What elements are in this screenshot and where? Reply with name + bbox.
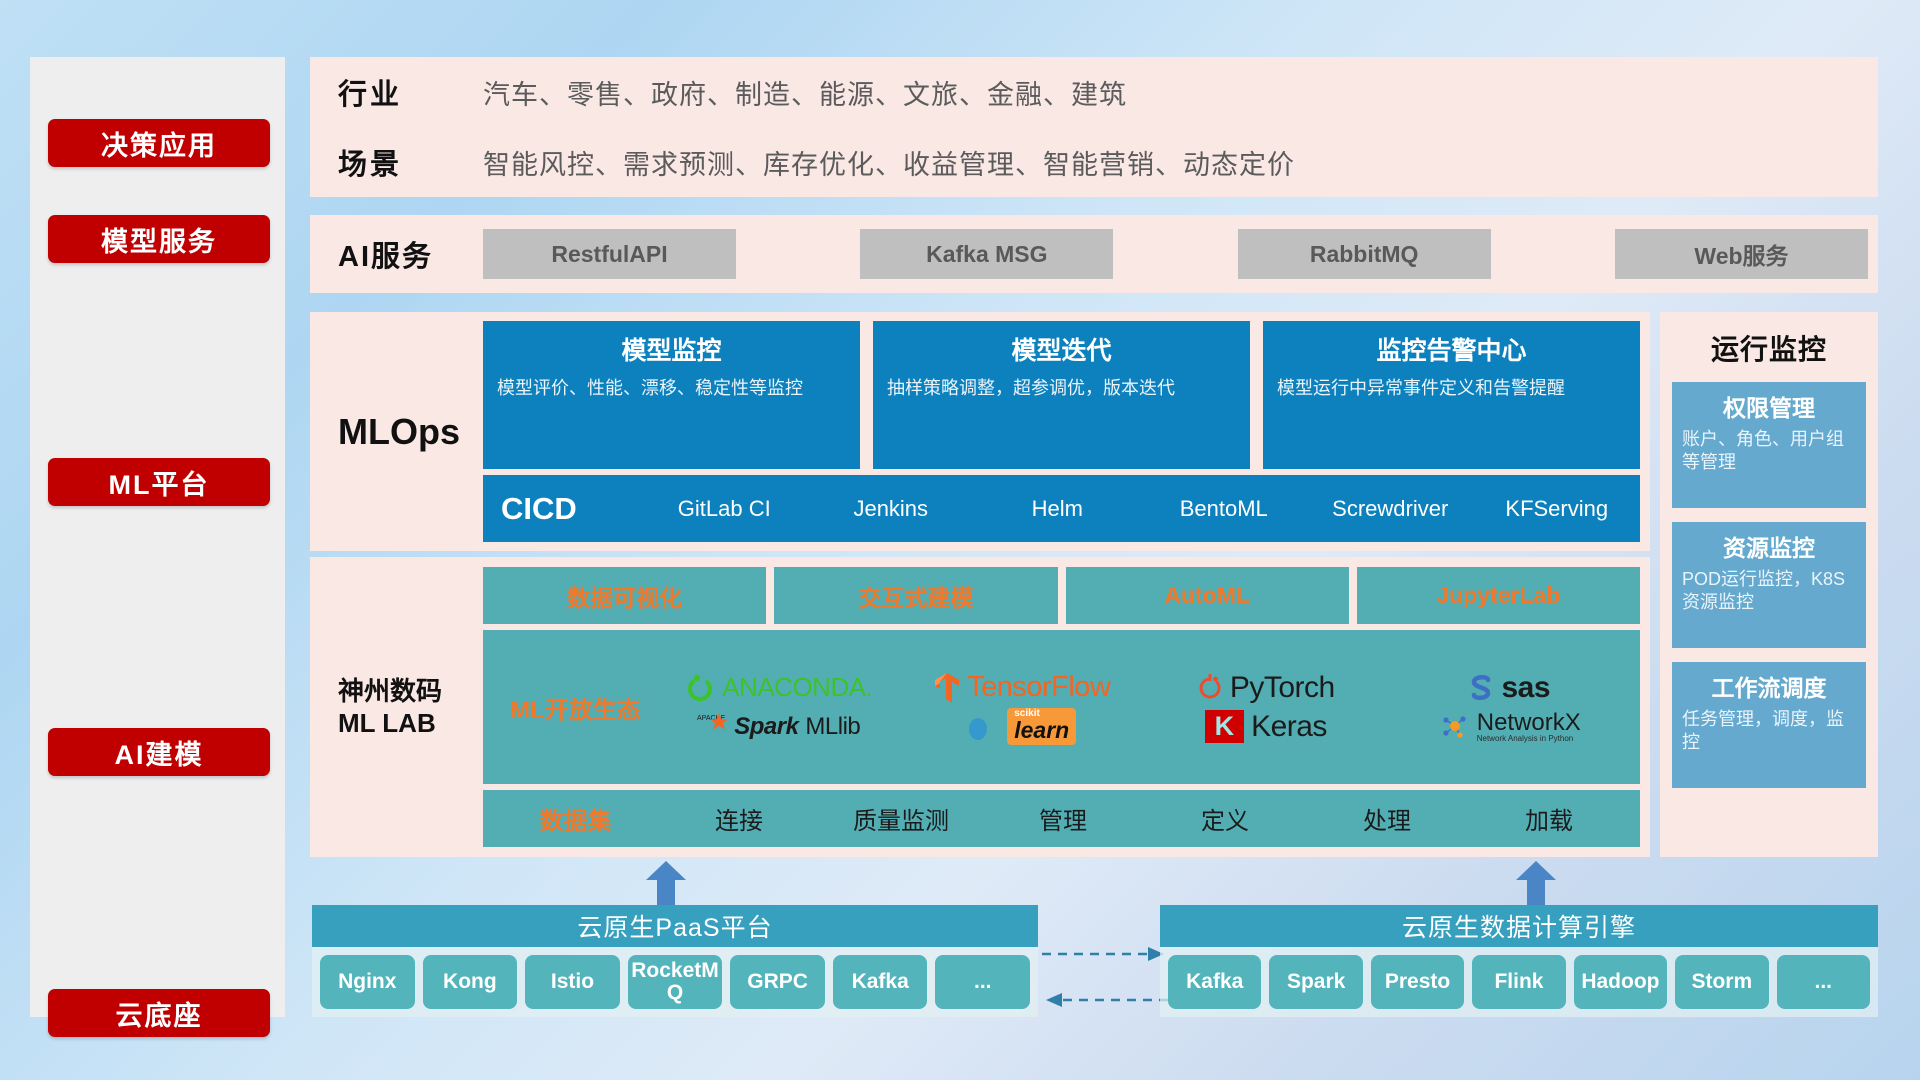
ml-lab-tool-list: 数据可视化 交互式建模 AutoML JupyterLab — [483, 567, 1640, 624]
mlops-card-list: 模型监控 模型评价、性能、漂移、稳定性等监控 模型迭代 抽样策略调整，超参调优，… — [483, 321, 1640, 469]
ml-ecosystem-logo-grid: ANACONDA. TensorFlow — [658, 669, 1630, 745]
run-monitor-card-desc: 任务管理，调度，监控 — [1682, 708, 1856, 755]
sas-logo-icon — [1468, 674, 1494, 702]
ai-service-chip-web-service[interactable]: Web服务 — [1615, 229, 1868, 279]
ml-lab-label-line2: ML LAB — [338, 707, 483, 740]
cicd-item-kfserving[interactable]: KFServing — [1474, 497, 1641, 520]
keras-logo-icon: K — [1205, 710, 1245, 743]
pytorch-logo-icon — [1197, 673, 1223, 703]
logo-anaconda[interactable]: ANACONDA. — [685, 672, 872, 703]
cloud-chip-kafka[interactable]: Kafka — [833, 955, 928, 1009]
logo-networkx[interactable]: NetworkX Network Analysis in Python — [1438, 710, 1581, 744]
run-monitor-card-resource[interactable]: 资源监控 POD运行监控，K8S资源监控 — [1672, 522, 1866, 648]
apache-spark-logo-icon: APACHE — [697, 711, 727, 743]
logo-spark-mllib[interactable]: APACHE Spark MLlib — [697, 711, 860, 743]
ml-lab-content: 数据可视化 交互式建模 AutoML JupyterLab ML开放生态 ANA… — [483, 567, 1640, 847]
run-monitor-card-desc: 账户、角色、用户组等管理 — [1682, 428, 1856, 475]
mlops-card-title: 监控告警中心 — [1277, 331, 1626, 367]
cloud-chip-more[interactable]: ... — [935, 955, 1030, 1009]
logo-anaconda-text: ANACONDA. — [722, 672, 872, 703]
cicd-item-bentoml[interactable]: BentoML — [1141, 497, 1308, 520]
run-monitor-card-permission[interactable]: 权限管理 账户、角色、用户组等管理 — [1672, 382, 1866, 508]
cloud-data-engine-chip-list: Kafka Spark Presto Flink Hadoop Storm ..… — [1160, 947, 1878, 1017]
mlops-card-model-monitoring[interactable]: 模型监控 模型评价、性能、漂移、稳定性等监控 — [483, 321, 860, 469]
ml-lab-label: 神州数码 ML LAB — [338, 675, 483, 740]
ai-service-chip-restfulapi[interactable]: RestfulAPI — [483, 229, 736, 279]
tensorflow-logo-icon — [934, 672, 960, 704]
scikit-learn-logo-icon — [968, 711, 1000, 743]
ai-service-chip-list: RestfulAPI Kafka MSG RabbitMQ Web服务 — [483, 229, 1878, 279]
cloud-chip-more[interactable]: ... — [1777, 955, 1870, 1009]
cicd-title: CICD — [501, 491, 641, 527]
logo-pytorch-text: PyTorch — [1230, 671, 1335, 705]
dataset-label: 数据集 — [493, 801, 658, 836]
logo-tensorflow-text: TensorFlow — [967, 671, 1110, 704]
cloud-chip-storm[interactable]: Storm — [1675, 955, 1768, 1009]
dataset-band: 数据集 连接 质量监测 管理 定义 处理 加载 — [483, 790, 1640, 847]
rail-label-ai-modeling[interactable]: AI建模 — [48, 728, 270, 776]
rail-label-model-service[interactable]: 模型服务 — [48, 215, 270, 263]
ml-ecosystem-band: ML开放生态 ANACONDA. TensorFlow — [483, 630, 1640, 784]
cloud-data-engine-title: 云原生数据计算引擎 — [1160, 905, 1878, 947]
cloud-chip-kafka[interactable]: Kafka — [1168, 955, 1261, 1009]
logo-scikit-learn[interactable]: scikit learn — [968, 708, 1076, 745]
cloud-chip-flink[interactable]: Flink — [1472, 955, 1565, 1009]
logo-pytorch[interactable]: PyTorch — [1197, 671, 1335, 705]
dataset-item-manage[interactable]: 管理 — [982, 801, 1144, 836]
logo-spark-text: Spark — [734, 713, 798, 741]
ai-service-panel: AI服务 RestfulAPI Kafka MSG RabbitMQ Web服务 — [310, 215, 1878, 293]
dataset-item-connect[interactable]: 连接 — [658, 801, 820, 836]
scenario-row: 场景 智能风控、需求预测、库存优化、收益管理、智能营销、动态定价 — [310, 127, 1878, 197]
tool-chip-automl[interactable]: AutoML — [1066, 567, 1349, 624]
cloud-chip-nginx[interactable]: Nginx — [320, 955, 415, 1009]
cicd-item-jenkins[interactable]: Jenkins — [808, 497, 975, 520]
run-monitor-card-title: 工作流调度 — [1682, 669, 1856, 703]
logo-sas-text: sas — [1501, 671, 1550, 705]
logo-networkx-text: NetworkX — [1477, 710, 1581, 735]
dataset-item-process[interactable]: 处理 — [1306, 801, 1468, 836]
up-arrow-paas-icon — [645, 861, 687, 905]
ml-ecosystem-label: ML开放生态 — [493, 690, 658, 725]
cicd-item-screwdriver[interactable]: Screwdriver — [1307, 497, 1474, 520]
bidirectional-link-arrows-icon — [1040, 938, 1170, 1016]
logo-learn-text: learn — [1014, 719, 1069, 742]
cloud-chip-presto[interactable]: Presto — [1371, 955, 1464, 1009]
run-monitor-card-desc: POD运行监控，K8S资源监控 — [1682, 568, 1856, 615]
cloud-chip-hadoop[interactable]: Hadoop — [1574, 955, 1667, 1009]
cloud-chip-rocketmq[interactable]: RocketMQ — [628, 955, 723, 1009]
run-monitor-card-workflow[interactable]: 工作流调度 任务管理，调度，监控 — [1672, 662, 1866, 788]
mlops-panel: MLOps 模型监控 模型评价、性能、漂移、稳定性等监控 模型迭代 抽样策略调整… — [310, 312, 1650, 551]
cloud-paas-chip-list: Nginx Kong Istio RocketMQ GRPC Kafka ... — [312, 947, 1038, 1017]
mlops-label: MLOps — [338, 411, 483, 453]
mlops-card-alert-center[interactable]: 监控告警中心 模型运行中异常事件定义和告警提醒 — [1263, 321, 1640, 469]
dataset-item-define[interactable]: 定义 — [1144, 801, 1306, 836]
ai-service-chip-rabbitmq[interactable]: RabbitMQ — [1238, 229, 1491, 279]
decision-apps-panel: 行业 汽车、零售、政府、制造、能源、文旅、金融、建筑 场景 智能风控、需求预测、… — [310, 57, 1878, 197]
mlops-card-desc: 模型评价、性能、漂移、稳定性等监控 — [497, 376, 846, 401]
mlops-content: 模型监控 模型评价、性能、漂移、稳定性等监控 模型迭代 抽样策略调整，超参调优，… — [483, 321, 1640, 542]
rail-label-cloud-base[interactable]: 云底座 — [48, 989, 270, 1037]
logo-networkx-subtext: Network Analysis in Python — [1477, 735, 1581, 743]
scenario-label: 场景 — [338, 141, 483, 183]
dataset-item-load[interactable]: 加载 — [1468, 801, 1630, 836]
mlops-card-title: 模型迭代 — [887, 331, 1236, 367]
cloud-chip-grpc[interactable]: GRPC — [730, 955, 825, 1009]
ml-lab-label-line1: 神州数码 — [338, 675, 483, 708]
cicd-item-gitlab-ci[interactable]: GitLab CI — [641, 497, 808, 520]
rail-label-ml-platform[interactable]: ML平台 — [48, 458, 270, 506]
networkx-wordmark: NetworkX Network Analysis in Python — [1477, 710, 1581, 744]
run-monitor-card-title: 权限管理 — [1682, 389, 1856, 423]
cloud-paas-panel: 云原生PaaS平台 Nginx Kong Istio RocketMQ GRPC… — [312, 905, 1038, 1017]
run-monitor-title: 运行监控 — [1672, 328, 1866, 368]
dataset-item-quality[interactable]: 质量监测 — [820, 801, 982, 836]
scikit-learn-badge: scikit learn — [1007, 708, 1076, 745]
scenario-value: 智能风控、需求预测、库存优化、收益管理、智能营销、动态定价 — [483, 143, 1295, 182]
cloud-chip-istio[interactable]: Istio — [525, 955, 620, 1009]
cicd-bar: CICD GitLab CI Jenkins Helm BentoML Scre… — [483, 475, 1640, 542]
tool-chip-interactive-modeling[interactable]: 交互式建模 — [774, 567, 1057, 624]
logo-keras[interactable]: K Keras — [1205, 710, 1327, 744]
logo-mllib-text: MLlib — [805, 713, 860, 741]
industry-value: 汽车、零售、政府、制造、能源、文旅、金融、建筑 — [483, 73, 1127, 112]
ai-service-chip-kafka-msg[interactable]: Kafka MSG — [860, 229, 1113, 279]
industry-label: 行业 — [338, 71, 483, 113]
logo-keras-text: Keras — [1251, 710, 1327, 744]
rail-label-decision-apps[interactable]: 决策应用 — [48, 119, 270, 167]
run-monitor-panel: 运行监控 权限管理 账户、角色、用户组等管理 资源监控 POD运行监控，K8S资… — [1660, 312, 1878, 857]
cloud-paas-title: 云原生PaaS平台 — [312, 905, 1038, 947]
up-arrow-data-engine-icon — [1515, 861, 1557, 905]
left-rail: 决策应用 模型服务 ML平台 AI建模 云底座 — [30, 57, 285, 1017]
industry-row: 行业 汽车、零售、政府、制造、能源、文旅、金融、建筑 — [310, 57, 1878, 127]
ml-lab-panel: 神州数码 ML LAB 数据可视化 交互式建模 AutoML JupyterLa… — [310, 557, 1650, 857]
mlops-card-model-iteration[interactable]: 模型迭代 抽样策略调整，超参调优，版本迭代 — [873, 321, 1250, 469]
cloud-data-engine-panel: 云原生数据计算引擎 Kafka Spark Presto Flink Hadoo… — [1160, 905, 1878, 1017]
mlops-card-desc: 抽样策略调整，超参调优，版本迭代 — [887, 376, 1236, 401]
mlops-card-desc: 模型运行中异常事件定义和告警提醒 — [1277, 376, 1626, 401]
tool-chip-jupyterlab[interactable]: JupyterLab — [1357, 567, 1640, 624]
cloud-chip-kong[interactable]: Kong — [423, 955, 518, 1009]
cloud-chip-spark[interactable]: Spark — [1269, 955, 1362, 1009]
tool-chip-data-visualization[interactable]: 数据可视化 — [483, 567, 766, 624]
run-monitor-card-title: 资源监控 — [1682, 529, 1856, 563]
mlops-card-title: 模型监控 — [497, 331, 846, 367]
anaconda-logo-icon — [685, 673, 715, 703]
logo-sas[interactable]: sas — [1468, 671, 1550, 705]
networkx-logo-icon — [1438, 710, 1470, 742]
ai-service-label: AI服务 — [338, 233, 483, 275]
cicd-item-helm[interactable]: Helm — [974, 497, 1141, 520]
logo-tensorflow[interactable]: TensorFlow — [934, 671, 1110, 704]
